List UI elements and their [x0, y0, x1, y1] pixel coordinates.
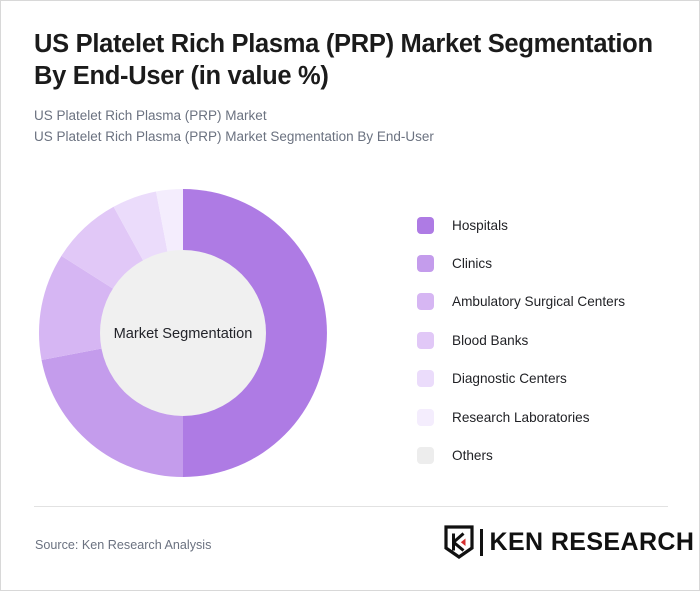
brand-divider — [480, 529, 483, 556]
chart-card: US Platelet Rich Plasma (PRP) Market Seg… — [0, 0, 700, 591]
subtitle-line-1: US Platelet Rich Plasma (PRP) Market — [34, 106, 654, 127]
legend-swatch-icon — [417, 217, 434, 234]
subtitle-line-2: US Platelet Rich Plasma (PRP) Market Seg… — [34, 127, 654, 148]
source-note: Source: Ken Research Analysis — [35, 538, 211, 552]
legend-item[interactable]: Clinics — [417, 244, 677, 282]
legend-item[interactable]: Blood Banks — [417, 321, 677, 359]
legend-label: Others — [452, 448, 493, 463]
ken-research-logo-icon — [444, 525, 474, 559]
legend-label: Research Laboratories — [452, 410, 590, 425]
header: US Platelet Rich Plasma (PRP) Market Seg… — [34, 29, 654, 148]
legend-item[interactable]: Others — [417, 436, 677, 474]
brand-logo: KEN RESEARCH — [444, 523, 694, 561]
legend-item[interactable]: Diagnostic Centers — [417, 360, 677, 398]
legend-label: Blood Banks — [452, 333, 528, 348]
legend-label: Ambulatory Surgical Centers — [452, 294, 625, 309]
legend: HospitalsClinicsAmbulatory Surgical Cent… — [417, 206, 677, 475]
legend-swatch-icon — [417, 293, 434, 310]
legend-label: Diagnostic Centers — [452, 371, 567, 386]
legend-swatch-icon — [417, 255, 434, 272]
legend-swatch-icon — [417, 447, 434, 464]
legend-swatch-icon — [417, 409, 434, 426]
subtitle-block: US Platelet Rich Plasma (PRP) Market US … — [34, 106, 654, 148]
legend-swatch-icon — [417, 370, 434, 387]
legend-label: Clinics — [452, 256, 492, 271]
donut-svg: Market Segmentation — [34, 177, 334, 489]
legend-swatch-icon — [417, 332, 434, 349]
legend-item[interactable]: Research Laboratories — [417, 398, 677, 436]
legend-item[interactable]: Hospitals — [417, 206, 677, 244]
page-title: US Platelet Rich Plasma (PRP) Market Seg… — [34, 29, 654, 92]
footer-divider — [34, 506, 668, 507]
donut-chart: Market Segmentation — [34, 177, 334, 489]
brand-name: KEN RESEARCH — [490, 528, 695, 557]
donut-center-label: Market Segmentation — [114, 326, 253, 342]
legend-item[interactable]: Ambulatory Surgical Centers — [417, 283, 677, 321]
legend-label: Hospitals — [452, 218, 508, 233]
